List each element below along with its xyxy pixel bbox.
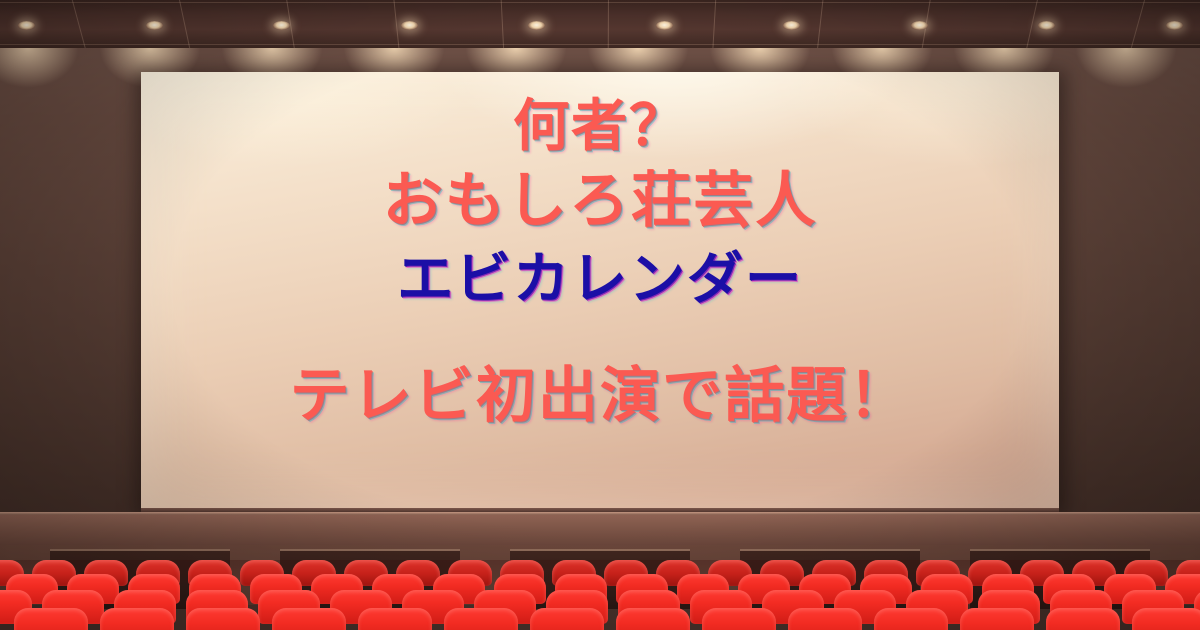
projection-screen [141, 72, 1059, 510]
ceiling-panel-seam [608, 0, 609, 48]
ceiling-panel-seam [392, 0, 401, 48]
ceiling-seam-line [0, 44, 1200, 45]
theater-seat [444, 608, 518, 630]
ceiling-can-light [18, 21, 35, 30]
ceiling-panel-seam [815, 0, 825, 48]
theater-seat [14, 608, 88, 630]
ceiling-can-light [1166, 21, 1183, 30]
ceiling-can-light [656, 21, 673, 30]
theater-seat [272, 608, 346, 630]
ceiling-panel-seam [1127, 0, 1149, 48]
theater-seat [616, 608, 690, 630]
theater-seat [702, 608, 776, 630]
theater-seat [960, 608, 1034, 630]
ceiling-panel-seam [176, 0, 193, 48]
ceiling-can-light [273, 21, 290, 30]
cinema-title-card: 何者？ おもしろ荘芸人 エビカレンダー テレビ初出演で話題！ [0, 0, 1200, 630]
theater-seat [1046, 608, 1120, 630]
ceiling-panel-seam [68, 0, 89, 48]
theater-seat [874, 608, 948, 630]
theater-seat [358, 608, 432, 630]
theater-seat [530, 608, 604, 630]
theater-seat [788, 608, 862, 630]
theater-seat [1132, 608, 1200, 630]
stage-apron [0, 515, 1200, 545]
audience-seating [0, 560, 1200, 630]
ceiling-can-light [401, 21, 418, 30]
ceiling-panel-seam [712, 0, 717, 48]
ceiling-can-light [911, 21, 928, 30]
ceiling-can-light [146, 21, 163, 30]
ceiling-panel-seam [500, 0, 505, 48]
theater-seat [100, 608, 174, 630]
theater-seat [186, 608, 260, 630]
screen-light-hotspot [141, 72, 1059, 510]
theater-ceiling [0, 0, 1200, 48]
